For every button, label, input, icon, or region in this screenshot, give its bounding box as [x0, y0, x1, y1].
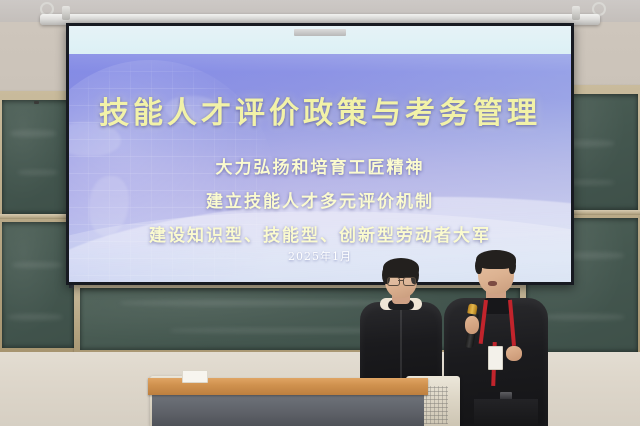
left-chalkboard-upper	[2, 100, 74, 214]
presenter-left-glasses-left-lens	[387, 277, 400, 286]
presenter-right-mouth	[488, 281, 497, 286]
classroom-presentation-photo: 技能人才评价政策与考务管理 大力弘扬和培育工匠精神 建立技能人才多元评价机制 建…	[0, 0, 640, 426]
presenter-left-glasses-bridge	[398, 280, 403, 281]
presenter-right-hair-side-r	[509, 258, 516, 274]
presenter-left-glasses-right-lens	[403, 277, 416, 286]
microphone-head	[467, 303, 478, 314]
valance-bracket-right	[572, 6, 580, 20]
presenter-right-hair-side-l	[475, 258, 482, 274]
slide-bullet: 建立技能人才多元评价机制	[69, 187, 571, 212]
valance-bracket-left	[62, 6, 70, 20]
left-chalkboard-lower	[2, 222, 74, 348]
slide-title: 技能人才评价政策与考务管理	[69, 88, 571, 132]
presenter-right-trousers	[474, 399, 538, 426]
slide-bullet: 大力弘扬和培育工匠精神	[69, 153, 571, 178]
screen-brand-label	[294, 29, 346, 36]
presenter-left-jacket-seam	[400, 310, 402, 386]
name-card	[182, 370, 208, 383]
projected-slide: 技能人才评价政策与考务管理 大力弘扬和培育工匠精神 建立技能人才多元评价机制 建…	[69, 26, 571, 282]
left-board-clip	[34, 101, 39, 104]
presenter-right-shirt	[484, 298, 510, 314]
projection-screen: 技能人才评价政策与考务管理 大力弘扬和培育工匠精神 建立技能人才多元评价机制 建…	[66, 23, 574, 285]
presenter-right-hand-gesture	[506, 346, 522, 361]
slide-bullet-list: 大力弘扬和培育工匠精神 建立技能人才多元评价机制 建设知识型、技能型、创新型劳动…	[69, 144, 571, 255]
presenter-left	[358, 256, 444, 386]
id-badge	[488, 346, 503, 370]
slide-bullet: 建设知识型、技能型、创新型劳动者大军	[69, 221, 571, 246]
left-board-rail	[0, 214, 76, 219]
podium-front-panel	[152, 395, 424, 426]
presenter-right-hand-mic	[465, 316, 479, 334]
presenter-right	[444, 250, 552, 426]
